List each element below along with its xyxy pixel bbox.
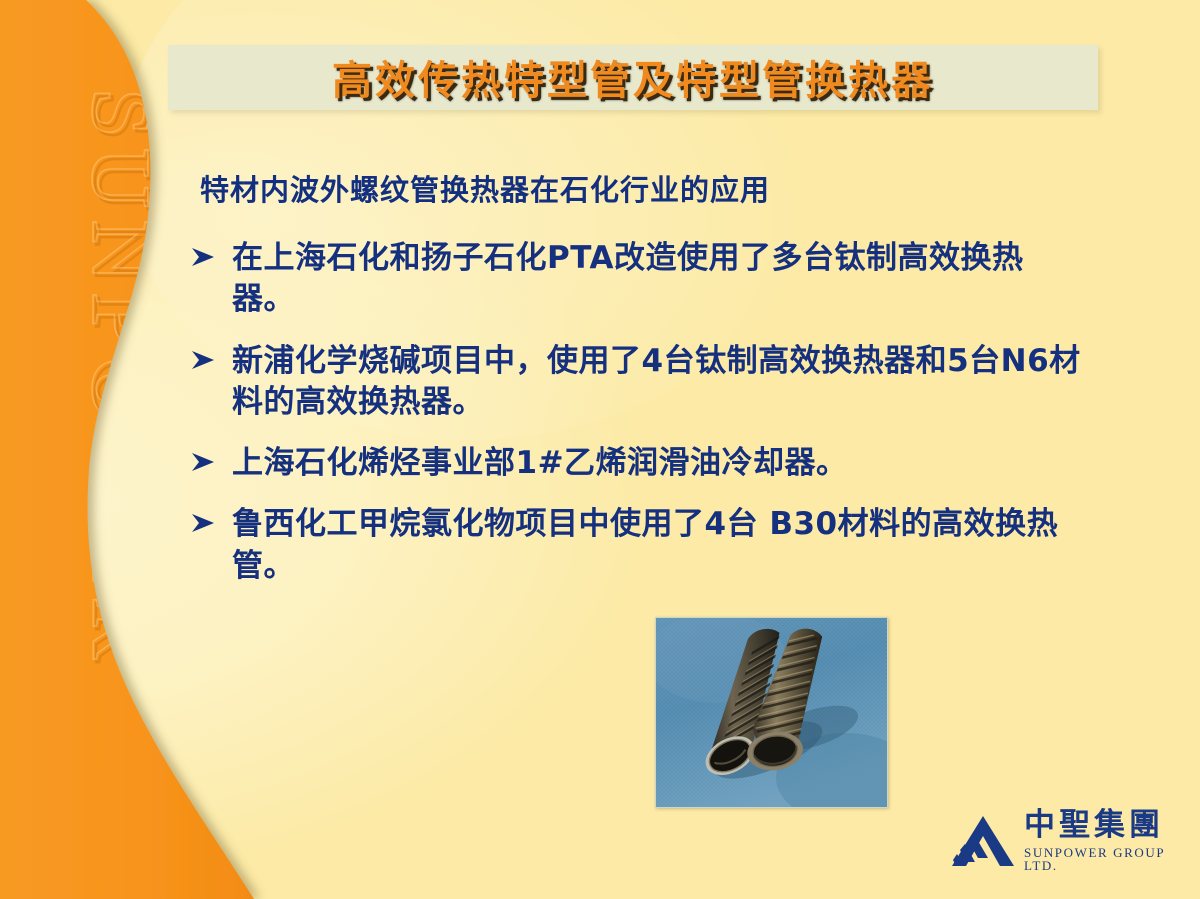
logo-chinese-name: 中聖集團 — [1024, 810, 1185, 841]
mountain-triangle-icon — [950, 814, 1016, 868]
logo-wordmark: 中聖集團 SUNPOWER GROUP LTD. — [1024, 810, 1185, 872]
logo-english-name: SUNPOWER GROUP LTD. — [1024, 846, 1185, 872]
list-item: 在上海石化和扬子石化PTA改造使用了多台钛制高效换热器。 — [186, 238, 1086, 320]
list-item: 上海石化烯烃事业部1#乙烯润滑油冷却器。 — [186, 443, 1086, 484]
svg-text:SUNPOWER: SUNPOWER — [74, 89, 167, 670]
arrow-bullet-icon — [188, 447, 218, 477]
company-logo: 中聖集團 SUNPOWER GROUP LTD. — [950, 806, 1185, 876]
list-item-text: 鲁西化工甲烷氯化物项目中使用了4台 B30材料的高效换热管。 — [232, 506, 1058, 583]
list-item-text: 新浦化学烧碱项目中，使用了4台钛制高效换热器和5台N6材料的高效换热器。 — [232, 343, 1081, 420]
list-item: 鲁西化工甲烷氯化物项目中使用了4台 B30材料的高效换热管。 — [186, 504, 1086, 586]
page-title: 高效传热特型管及特型管换热器 — [168, 44, 1098, 110]
arrow-bullet-icon — [188, 345, 218, 375]
slide-body: 特材内波外螺纹管换热器在石化行业的应用 在上海石化和扬子石化PTA改造使用了多台… — [186, 172, 1086, 607]
list-item-text: 上海石化烯烃事业部1#乙烯润滑油冷却器。 — [232, 445, 848, 481]
heat-exchanger-tubes-photo: corrugated-heat-exchanger-tubes-photo — [655, 617, 888, 808]
list-item-text: 在上海石化和扬子石化PTA改造使用了多台钛制高效换热器。 — [232, 240, 1023, 317]
arrow-bullet-icon — [188, 242, 218, 272]
arrow-bullet-icon — [188, 508, 218, 538]
lead-paragraph: 特材内波外螺纹管换热器在石化行业的应用 — [200, 172, 1086, 208]
slide-canvas: SUNPOWER SUNPOWER SUNPOWER 高效传热特型管及特型管换热… — [0, 0, 1200, 899]
list-item: 新浦化学烧碱项目中，使用了4台钛制高效换热器和5台N6材料的高效换热器。 — [186, 341, 1086, 423]
